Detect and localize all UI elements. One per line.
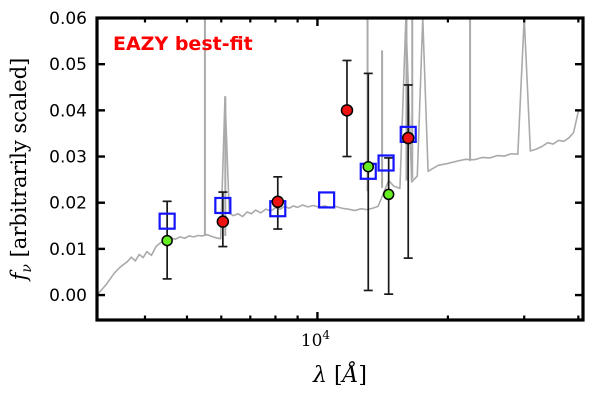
plot-svg: 0.000.010.020.030.040.050.06104λ [Å]fν [… — [0, 0, 600, 400]
eazy-best-fit-annotation: EAZY best-fit — [113, 33, 253, 55]
errorbar — [384, 158, 393, 294]
photometry-point-red — [341, 105, 352, 116]
model-spectrum-line — [97, 18, 578, 295]
model-flux-square — [319, 192, 334, 207]
x-axis-label: λ [Å] — [312, 360, 367, 388]
photometry-point-green — [384, 189, 394, 199]
y-tick-label: 0.00 — [49, 286, 87, 306]
photometry-point-green — [363, 162, 373, 172]
photometry-point-red — [272, 196, 283, 207]
y-tick-label: 0.04 — [49, 101, 87, 121]
photometry-point-red — [217, 216, 228, 227]
errorbar — [364, 73, 373, 290]
y-tick-label: 0.02 — [49, 194, 87, 214]
axes-frame — [97, 18, 583, 320]
y-tick-label: 0.06 — [49, 9, 87, 29]
y-tick-label: 0.05 — [49, 55, 87, 75]
x-tick-label-group: 104 — [301, 328, 331, 351]
photometry-point-red — [403, 133, 414, 144]
data-layer — [97, 18, 578, 295]
y-tick-label: 0.01 — [49, 240, 87, 260]
figure-canvas: 0.000.010.020.030.040.050.06104λ [Å]fν [… — [0, 0, 600, 400]
x-tick-label: 104 — [301, 328, 331, 351]
y-tick-label: 0.03 — [49, 148, 87, 168]
photometry-point-green — [162, 236, 172, 246]
y-axis-label: fν [arbitrarily scaled] — [7, 58, 35, 283]
